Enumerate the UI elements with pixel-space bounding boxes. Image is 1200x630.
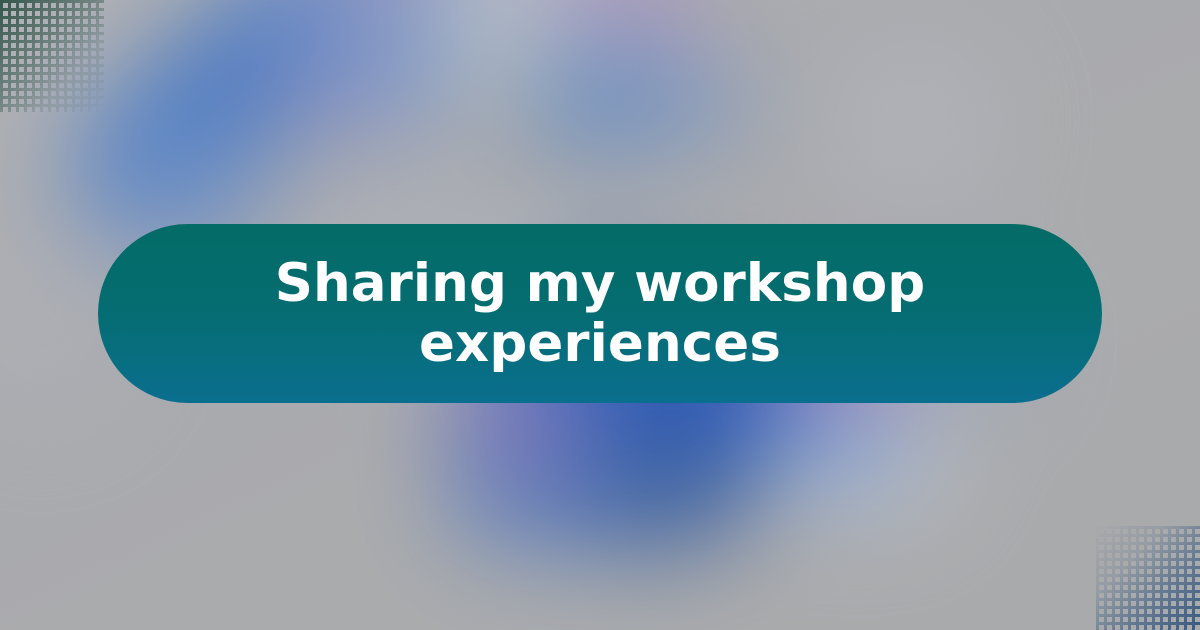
halftone-grid-bottom-right-icon — [1096, 526, 1200, 630]
halftone-grid-top-left-icon — [0, 0, 104, 112]
title-pill: Sharing my workshop experiences — [98, 224, 1102, 403]
page-title: Sharing my workshop experiences — [275, 254, 926, 373]
banner-card: Sharing my workshop experiences — [0, 0, 1200, 630]
